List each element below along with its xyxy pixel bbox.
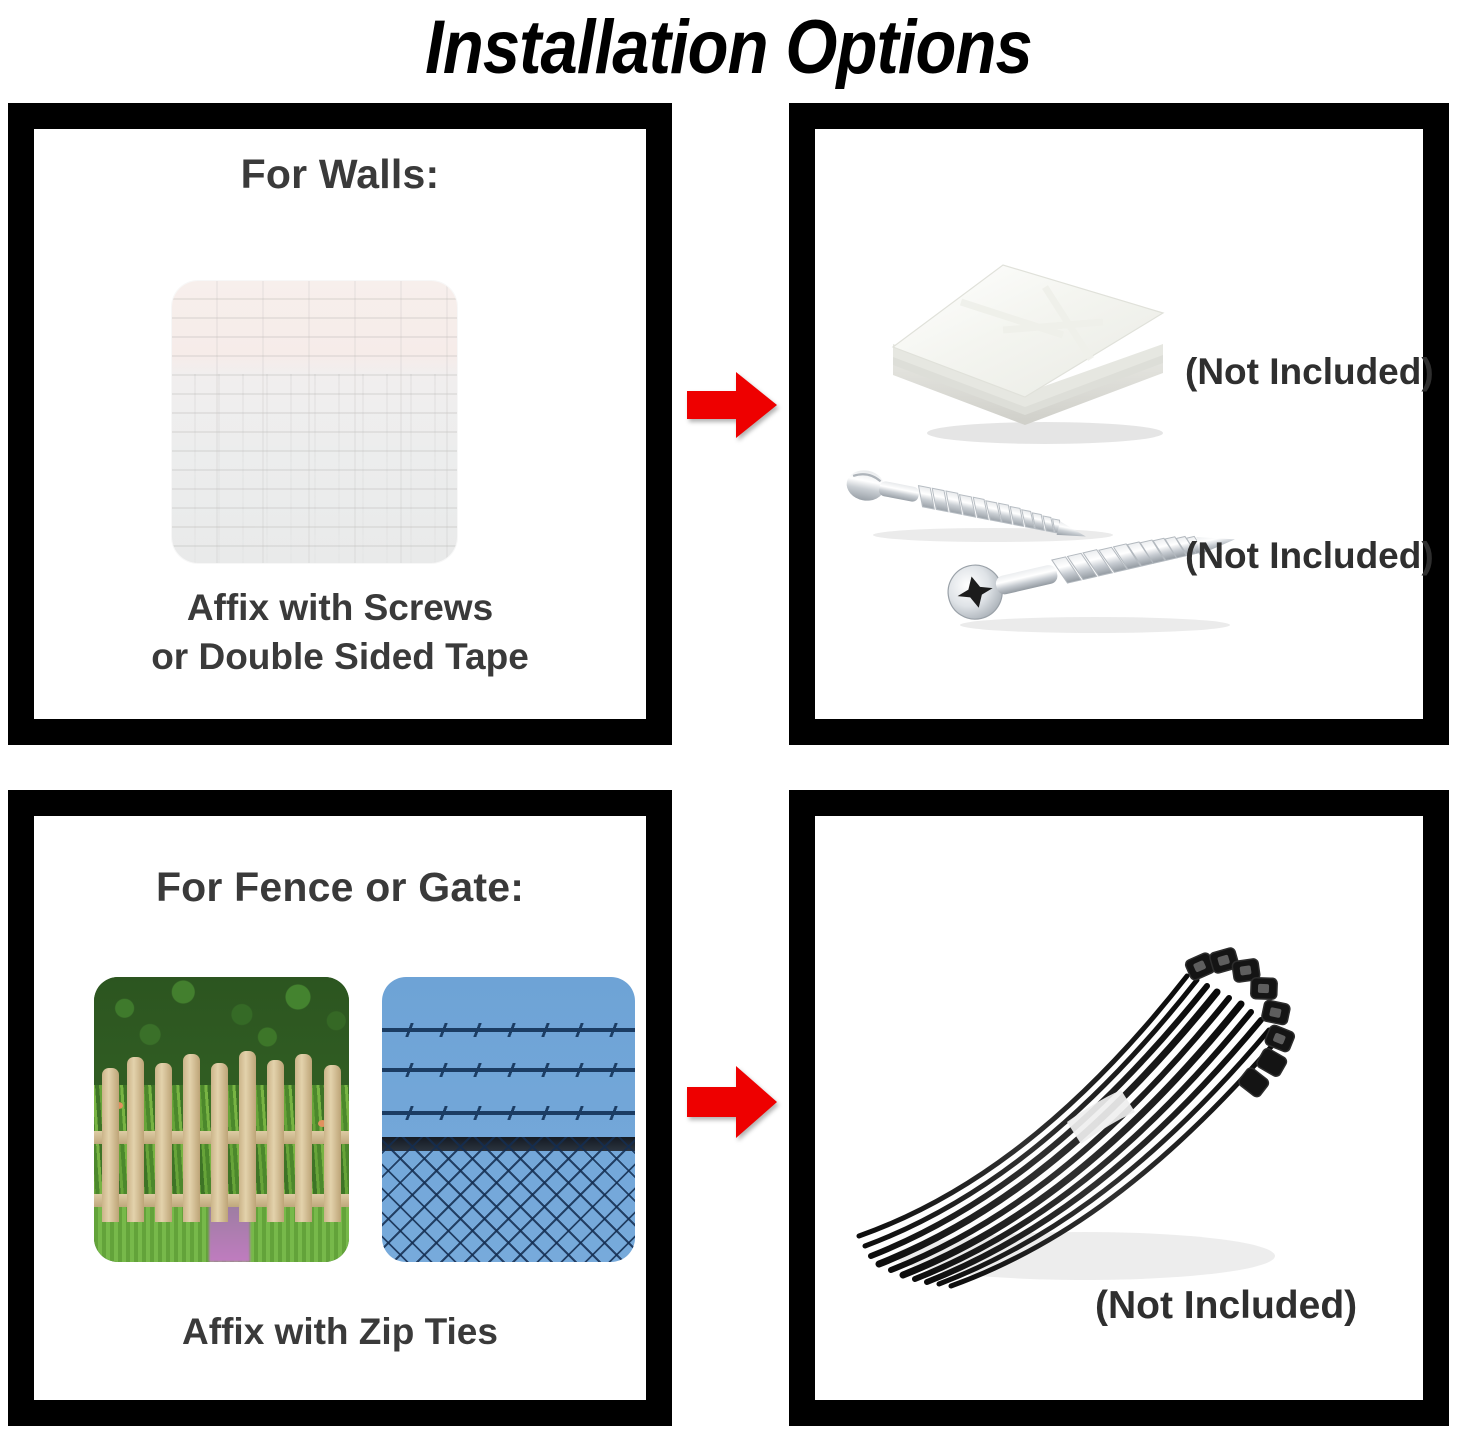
caption-line-2: or Double Sided Tape [34, 632, 646, 681]
panel-walls-caption: Affix with Screws or Double Sided Tape [34, 583, 646, 681]
red-right-arrow-icon-top [687, 372, 777, 438]
zip-ties-image [835, 926, 1305, 1316]
panel-wall-hardware: (Not Included) [789, 103, 1449, 745]
panel-fence-caption: Affix with Zip Ties [34, 1307, 646, 1356]
red-right-arrow-icon-bottom [687, 1066, 777, 1138]
panel-fence-hardware: (Not Included) [789, 790, 1449, 1426]
screws-not-included-label: (Not Included) [1185, 535, 1434, 577]
chain-link-fence-image [382, 977, 635, 1262]
panel-for-walls: For Walls: Affix with Screws or Double S… [8, 103, 672, 745]
caption-line-1: Affix with Screws [34, 583, 646, 632]
tape-not-included-label: (Not Included) [1185, 351, 1434, 393]
panel-walls-heading: For Walls: [34, 151, 646, 198]
panel-for-fence-or-gate: For Fence or Gate: [8, 790, 672, 1426]
picket-fence-image [94, 977, 349, 1262]
page-title: Installation Options [87, 0, 1369, 95]
zip-ties-not-included-label: (Not Included) [1095, 1284, 1357, 1328]
panel-fence-heading: For Fence or Gate: [34, 864, 646, 911]
caption-line-1: Affix with Zip Ties [34, 1307, 646, 1356]
double-sided-tape-image [875, 247, 1190, 447]
white-brick-wall-image [172, 281, 457, 563]
